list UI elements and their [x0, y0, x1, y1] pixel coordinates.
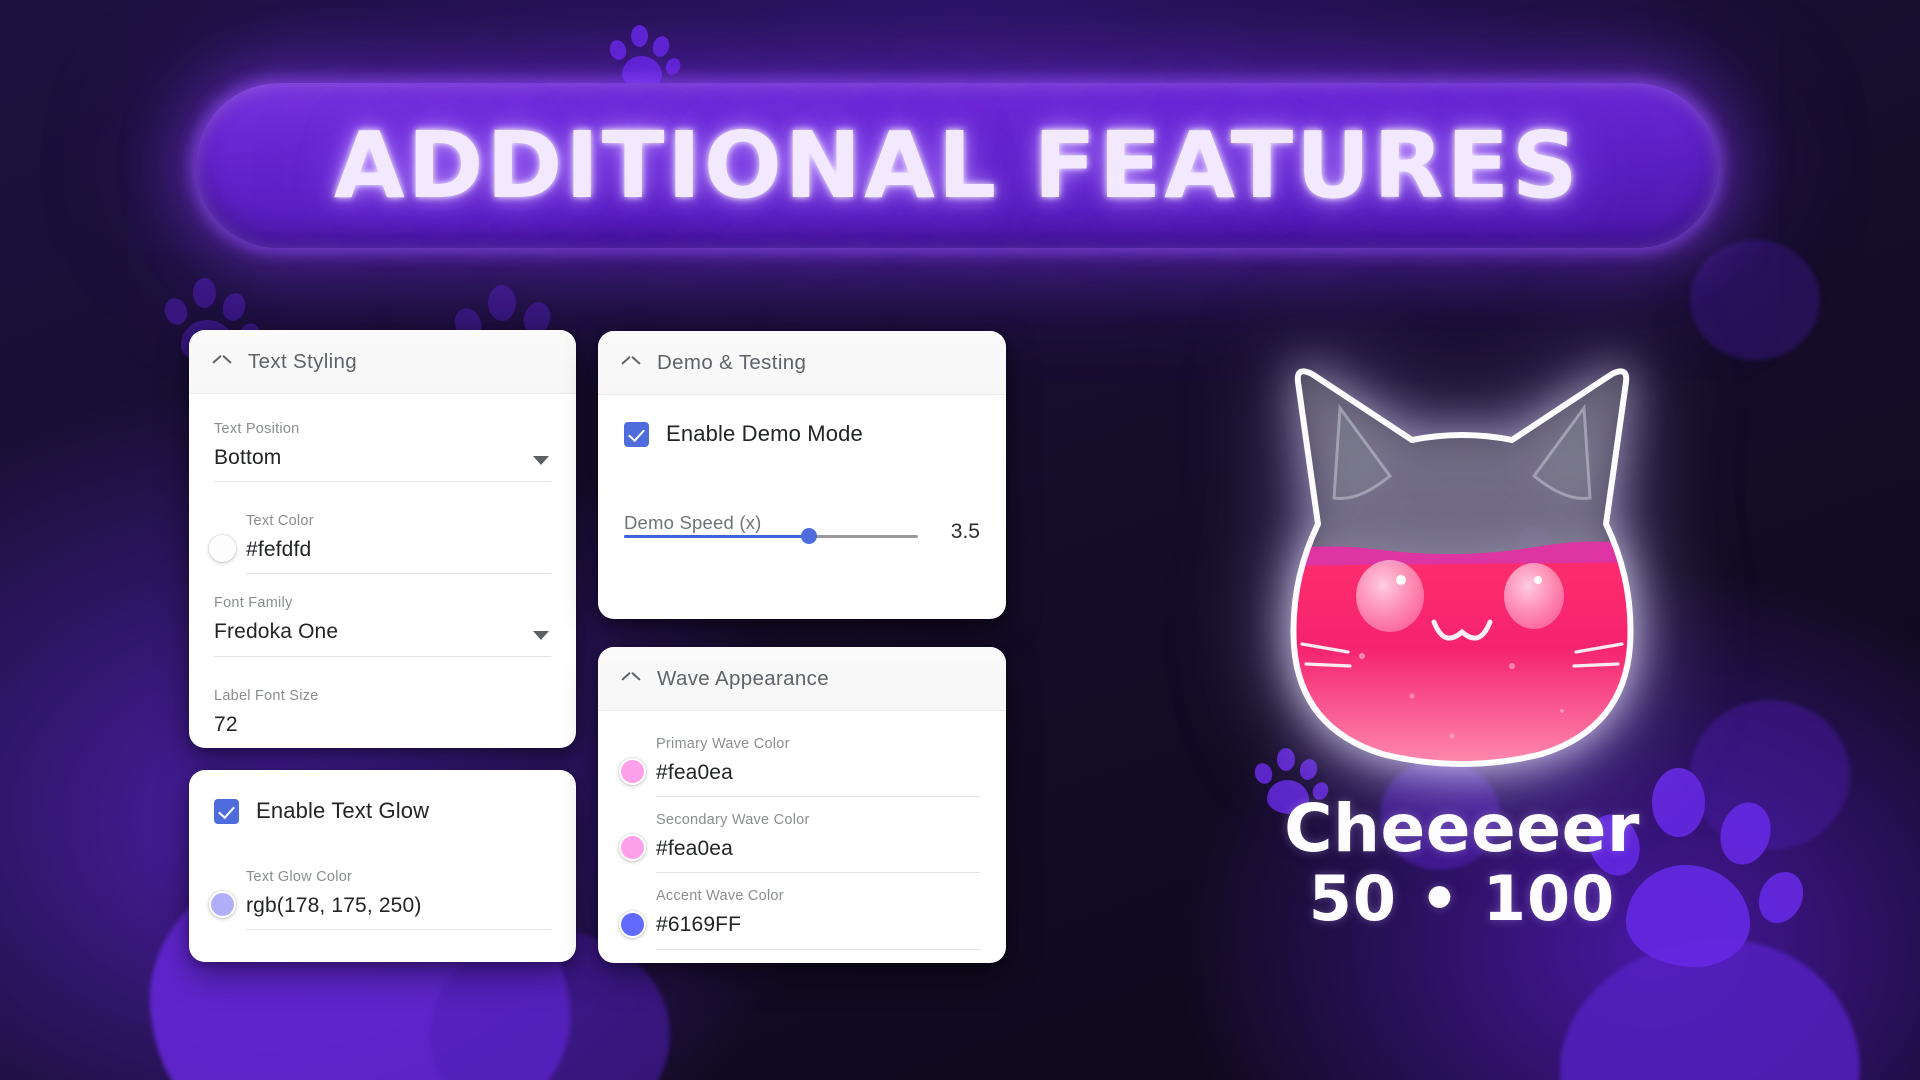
card-header-wave-appearance[interactable]: Wave Appearance — [598, 647, 1006, 711]
value-demo-speed: 3.5 — [940, 520, 980, 544]
value-accent-wave-color: #6169FF — [656, 912, 980, 949]
label-enable-text-glow: Enable Text Glow — [256, 798, 429, 824]
value-secondary-wave-color: #fea0ea — [656, 836, 980, 873]
color-swatch-secondary-wave[interactable] — [619, 834, 646, 861]
field-font-family[interactable]: Font Family Fredoka One — [214, 590, 551, 656]
card-header-demo-testing[interactable]: Demo & Testing — [598, 331, 1006, 395]
chevron-down-icon[interactable] — [533, 631, 549, 640]
page-title: ADDITIONAL FEATURES — [334, 112, 1581, 219]
label-enable-demo-mode: Enable Demo Mode — [666, 421, 863, 447]
card-text-glow: Enable Text Glow Text Glow Color rgb(178… — [189, 770, 576, 962]
field-text-glow-color[interactable]: Text Glow Color rgb(178, 175, 250) — [214, 864, 551, 930]
slider-demo-speed[interactable]: Demo Speed (x) — [624, 519, 918, 545]
wave-preview — [1262, 356, 1662, 776]
label-primary-wave-color: Primary Wave Color — [656, 737, 980, 753]
chevron-up-icon[interactable] — [213, 353, 231, 371]
color-swatch-text-glow-color[interactable] — [209, 891, 236, 918]
card-demo-testing: Demo & Testing Enable Demo Mode Demo Spe… — [598, 331, 1006, 619]
checkbox-enable-text-glow[interactable] — [214, 799, 239, 824]
paw-print-icon — [610, 22, 678, 90]
color-swatch-accent-wave[interactable] — [619, 911, 646, 938]
cat-liquid-container-icon — [1262, 356, 1662, 776]
label-secondary-wave-color: Secondary Wave Color — [656, 813, 980, 829]
label-demo-speed: Demo Speed (x) — [624, 512, 762, 534]
field-secondary-wave-color[interactable]: Secondary Wave Color #fea0ea — [624, 807, 980, 873]
label-text-color: Text Color — [246, 514, 551, 530]
value-text-glow-color: rgb(178, 175, 250) — [246, 893, 551, 930]
slider-row-demo-speed[interactable]: Demo Speed (x) 3.5 — [624, 519, 980, 545]
value-font-family: Fredoka One — [214, 619, 551, 656]
value-text-position: Bottom — [214, 445, 551, 482]
card-wave-appearance: Wave Appearance Primary Wave Color #fea0… — [598, 647, 1006, 963]
checkbox-row-enable-demo-mode[interactable]: Enable Demo Mode — [624, 421, 980, 447]
label-text-position: Text Position — [214, 422, 551, 438]
value-primary-wave-color: #fea0ea — [656, 760, 980, 797]
label-text-glow-color: Text Glow Color — [246, 870, 551, 886]
checkbox-enable-demo-mode[interactable] — [624, 422, 649, 447]
label-accent-wave-color: Accent Wave Color — [656, 889, 980, 905]
preview-stats: 50 • 100 — [1262, 862, 1662, 935]
chevron-up-icon[interactable] — [622, 354, 640, 372]
value-label-font-size: 72 — [214, 712, 551, 749]
card-title-demo-testing: Demo & Testing — [657, 351, 806, 375]
field-primary-wave-color[interactable]: Primary Wave Color #fea0ea — [624, 731, 980, 797]
field-text-color[interactable]: Text Color #fefdfd — [214, 508, 551, 574]
card-header-text-styling[interactable]: Text Styling — [189, 330, 576, 394]
checkbox-row-enable-text-glow[interactable]: Enable Text Glow — [214, 798, 551, 824]
label-font-family: Font Family — [214, 596, 551, 612]
card-text-styling: Text Styling Text Position Bottom Text C… — [189, 330, 576, 748]
card-title-text-styling: Text Styling — [248, 350, 357, 374]
slider-thumb[interactable] — [801, 528, 817, 544]
color-swatch-text-color[interactable] — [209, 535, 236, 562]
chevron-down-icon[interactable] — [533, 456, 549, 465]
field-label-font-size[interactable]: Label Font Size 72 — [214, 683, 551, 748]
page-title-banner: ADDITIONAL FEATURES — [196, 83, 1718, 248]
label-label-font-size: Label Font Size — [214, 689, 551, 705]
slider-track-fill — [624, 535, 809, 538]
field-accent-wave-color[interactable]: Accent Wave Color #6169FF — [624, 883, 980, 949]
chevron-up-icon[interactable] — [622, 670, 640, 688]
preview-label: Cheeeeer — [1262, 790, 1662, 867]
value-text-color: #fefdfd — [246, 537, 551, 574]
field-text-position[interactable]: Text Position Bottom — [214, 416, 551, 482]
card-title-wave-appearance: Wave Appearance — [657, 667, 829, 691]
color-swatch-primary-wave[interactable] — [619, 758, 646, 785]
